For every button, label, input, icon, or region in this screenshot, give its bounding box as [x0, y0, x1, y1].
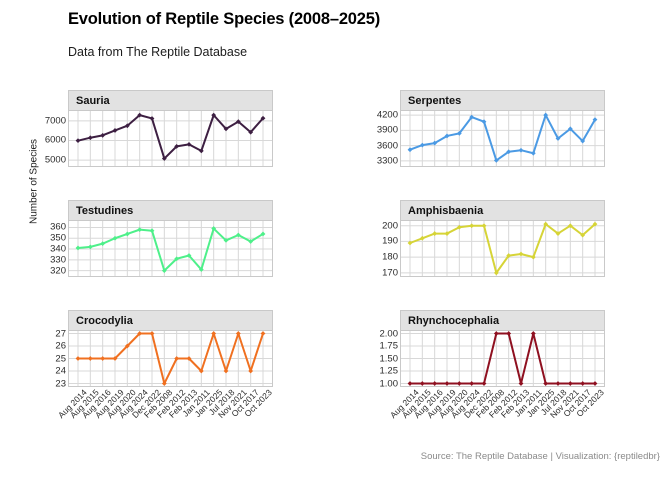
data-point — [469, 223, 474, 228]
panel-title: Serpentes — [401, 95, 461, 107]
y-tick-label: 350 — [50, 234, 66, 244]
facet-panel-serpentes: Serpentes3300360039004200 — [400, 90, 605, 167]
chart-page: Evolution of Reptile Species (2008–2025)… — [0, 0, 672, 480]
data-point — [531, 151, 536, 156]
y-tick-label: 1.75 — [380, 341, 399, 351]
y-tick-label: 24 — [55, 366, 66, 376]
panel-strip-rhynchocephalia: Rhynchocephalia — [400, 310, 605, 330]
series-canvas — [69, 331, 272, 386]
facet-panel-crocodylia: Crocodylia2324252627Aug 2014Aug 2015Aug … — [68, 310, 273, 387]
series-canvas — [401, 111, 604, 166]
panel-strip-serpentes: Serpentes — [400, 90, 605, 110]
data-point — [100, 356, 105, 361]
data-point — [88, 356, 93, 361]
data-point — [519, 148, 524, 153]
series-line — [410, 115, 595, 160]
data-point — [261, 331, 266, 336]
y-tick-label: 5000 — [45, 155, 66, 165]
y-tick-label: 360 — [50, 223, 66, 233]
y-tick-label: 3900 — [377, 126, 398, 136]
data-point — [494, 331, 499, 336]
y-tick-label: 3600 — [377, 141, 398, 151]
data-point — [568, 381, 573, 386]
y-tick-label: 2.00 — [380, 329, 399, 339]
panel-title: Testudines — [69, 205, 133, 217]
series-canvas — [69, 221, 272, 276]
plot-area-crocodylia: 2324252627Aug 2014Aug 2015Aug 2016Aug 20… — [68, 330, 273, 387]
facet-panel-testudines: Testudines320330340350360 — [68, 200, 273, 277]
page-subtitle: Data from The Reptile Database — [68, 45, 247, 59]
series-line — [78, 115, 263, 158]
y-axis-title: Number of Species — [29, 102, 40, 262]
panel-title: Rhynchocephalia — [401, 315, 499, 327]
plot-area-amphisbaenia: 170180190200 — [400, 220, 605, 277]
data-point — [211, 331, 216, 336]
y-tick-label: 3300 — [377, 156, 398, 166]
y-tick-label: 23 — [55, 379, 66, 389]
panel-strip-sauria: Sauria — [68, 90, 273, 110]
y-tick-label: 27 — [55, 329, 66, 339]
data-point — [432, 381, 437, 386]
y-tick-label: 200 — [382, 221, 398, 231]
data-point — [580, 381, 585, 386]
y-tick-label: 6000 — [45, 136, 66, 146]
data-point — [150, 116, 155, 121]
panel-strip-crocodylia: Crocodylia — [68, 310, 273, 330]
data-point — [125, 232, 130, 237]
y-tick-label: 330 — [50, 255, 66, 265]
data-point — [150, 228, 155, 233]
data-point — [457, 381, 462, 386]
data-point — [150, 331, 155, 336]
data-point — [76, 138, 81, 143]
y-tick-label: 320 — [50, 266, 66, 276]
y-tick-label: 26 — [55, 341, 66, 351]
data-point — [408, 381, 413, 386]
facet-panel-amphisbaenia: Amphisbaenia170180190200 — [400, 200, 605, 277]
y-tick-label: 1.00 — [380, 379, 399, 389]
y-tick-label: 25 — [55, 354, 66, 364]
data-point — [445, 381, 450, 386]
data-point — [482, 223, 487, 228]
plot-area-serpentes: 3300360039004200 — [400, 110, 605, 167]
data-point — [76, 246, 81, 251]
plot-area-sauria: 500060007000 — [68, 110, 273, 167]
data-point — [556, 381, 561, 386]
footer-caption: Source: The Reptile Database | Visualiza… — [421, 451, 660, 462]
panel-strip-amphisbaenia: Amphisbaenia — [400, 200, 605, 220]
data-point — [248, 369, 253, 374]
data-point — [506, 331, 511, 336]
facet-panel-rhynchocephalia: Rhynchocephalia1.001.251.501.752.00Aug 2… — [400, 310, 605, 387]
data-point — [519, 381, 524, 386]
page-title: Evolution of Reptile Species (2008–2025) — [68, 10, 380, 29]
facet-panel-sauria: Sauria500060007000 — [68, 90, 273, 167]
series-canvas — [401, 331, 604, 386]
series-line — [78, 229, 263, 271]
y-tick-label: 340 — [50, 244, 66, 254]
series-line — [410, 224, 595, 273]
y-tick-label: 170 — [382, 268, 398, 278]
y-tick-label: 190 — [382, 237, 398, 247]
plot-area-testudines: 320330340350360 — [68, 220, 273, 277]
y-tick-label: 7000 — [45, 116, 66, 126]
series-canvas — [69, 111, 272, 166]
data-point — [543, 381, 548, 386]
data-point — [469, 381, 474, 386]
data-point — [482, 381, 487, 386]
data-point — [531, 331, 536, 336]
panel-title: Amphisbaenia — [401, 205, 483, 217]
data-point — [593, 381, 598, 386]
y-tick-label: 180 — [382, 252, 398, 262]
data-point — [88, 135, 93, 140]
data-point — [519, 252, 524, 257]
plot-area-rhynchocephalia: 1.001.251.501.752.00Aug 2014Aug 2015Aug … — [400, 330, 605, 387]
data-point — [420, 381, 425, 386]
y-tick-label: 4200 — [377, 110, 398, 120]
data-point — [236, 331, 241, 336]
y-tick-label: 1.50 — [380, 354, 399, 364]
panel-strip-testudines: Testudines — [68, 200, 273, 220]
data-point — [76, 356, 81, 361]
panel-title: Sauria — [69, 95, 110, 107]
series-canvas — [401, 221, 604, 276]
data-point — [224, 369, 229, 374]
panel-title: Crocodylia — [69, 315, 133, 327]
y-tick-label: 1.25 — [380, 366, 399, 376]
